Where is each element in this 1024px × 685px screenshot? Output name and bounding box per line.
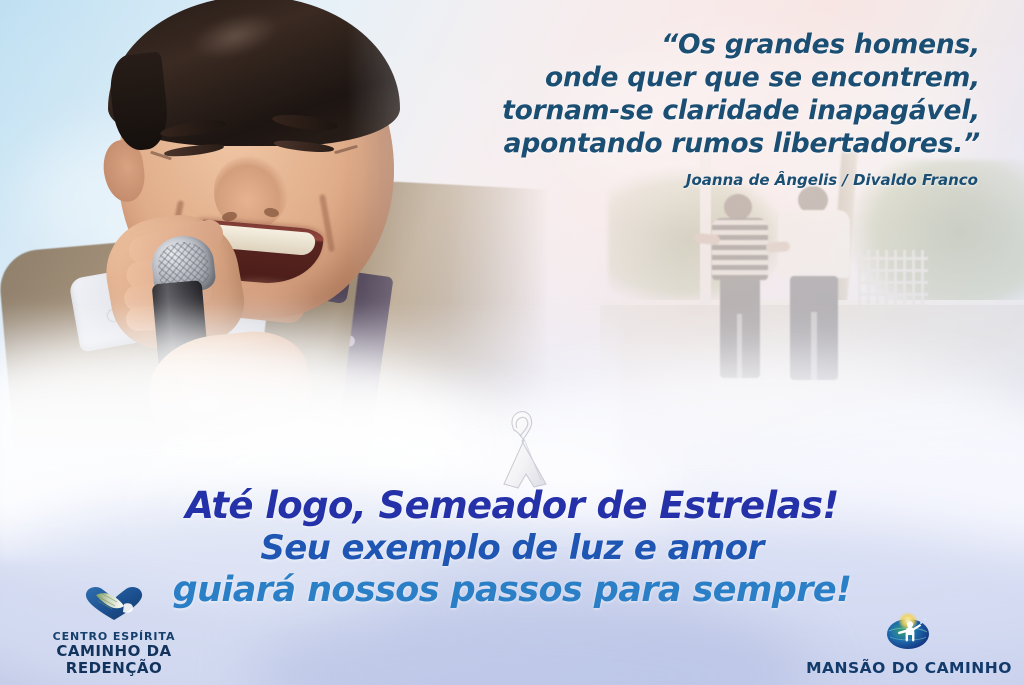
logo-right-line-1: MANSÃO DO CAMINHO	[804, 659, 1014, 677]
memorial-poster: “Os grandes homens, onde quer que se enc…	[0, 0, 1024, 685]
hand-highlight	[182, 392, 230, 416]
quote-line-4: apontando rumos libertadores.”	[420, 127, 980, 160]
heart-with-hands-icon	[14, 584, 214, 627]
quote-line-1: “Os grandes homens,	[420, 28, 980, 61]
faded-photo-two-people-walking	[600, 150, 1024, 440]
quote-line-3: tornam-se claridade inapagável,	[420, 94, 980, 127]
quote-attribution: Joanna de Ângelis / Divaldo Franco	[686, 171, 978, 189]
headline-line-1: Até logo, Semeador de Estrelas!	[0, 484, 1024, 528]
logo-centro-espirita-caminho-da-redencao[interactable]: CENTRO ESPÍRITA CAMINHO DA REDENÇÃO	[14, 584, 214, 677]
walking-figure-striped-shirt	[708, 194, 770, 379]
globe-with-figure-icon	[804, 611, 1014, 656]
walking-figure-white-shirt	[778, 186, 850, 381]
headline-line-2: Seu exemplo de luz e amor	[0, 528, 1024, 569]
white-mourning-ribbon-icon	[482, 406, 566, 492]
quote-text: “Os grandes homens, onde quer que se enc…	[420, 28, 980, 160]
quote-line-2: onde quer que se encontrem,	[420, 61, 980, 94]
logo-mansao-do-caminho[interactable]: MANSÃO DO CAMINHO	[804, 611, 1014, 677]
logo-left-line-2: CAMINHO DA REDENÇÃO	[14, 643, 214, 677]
